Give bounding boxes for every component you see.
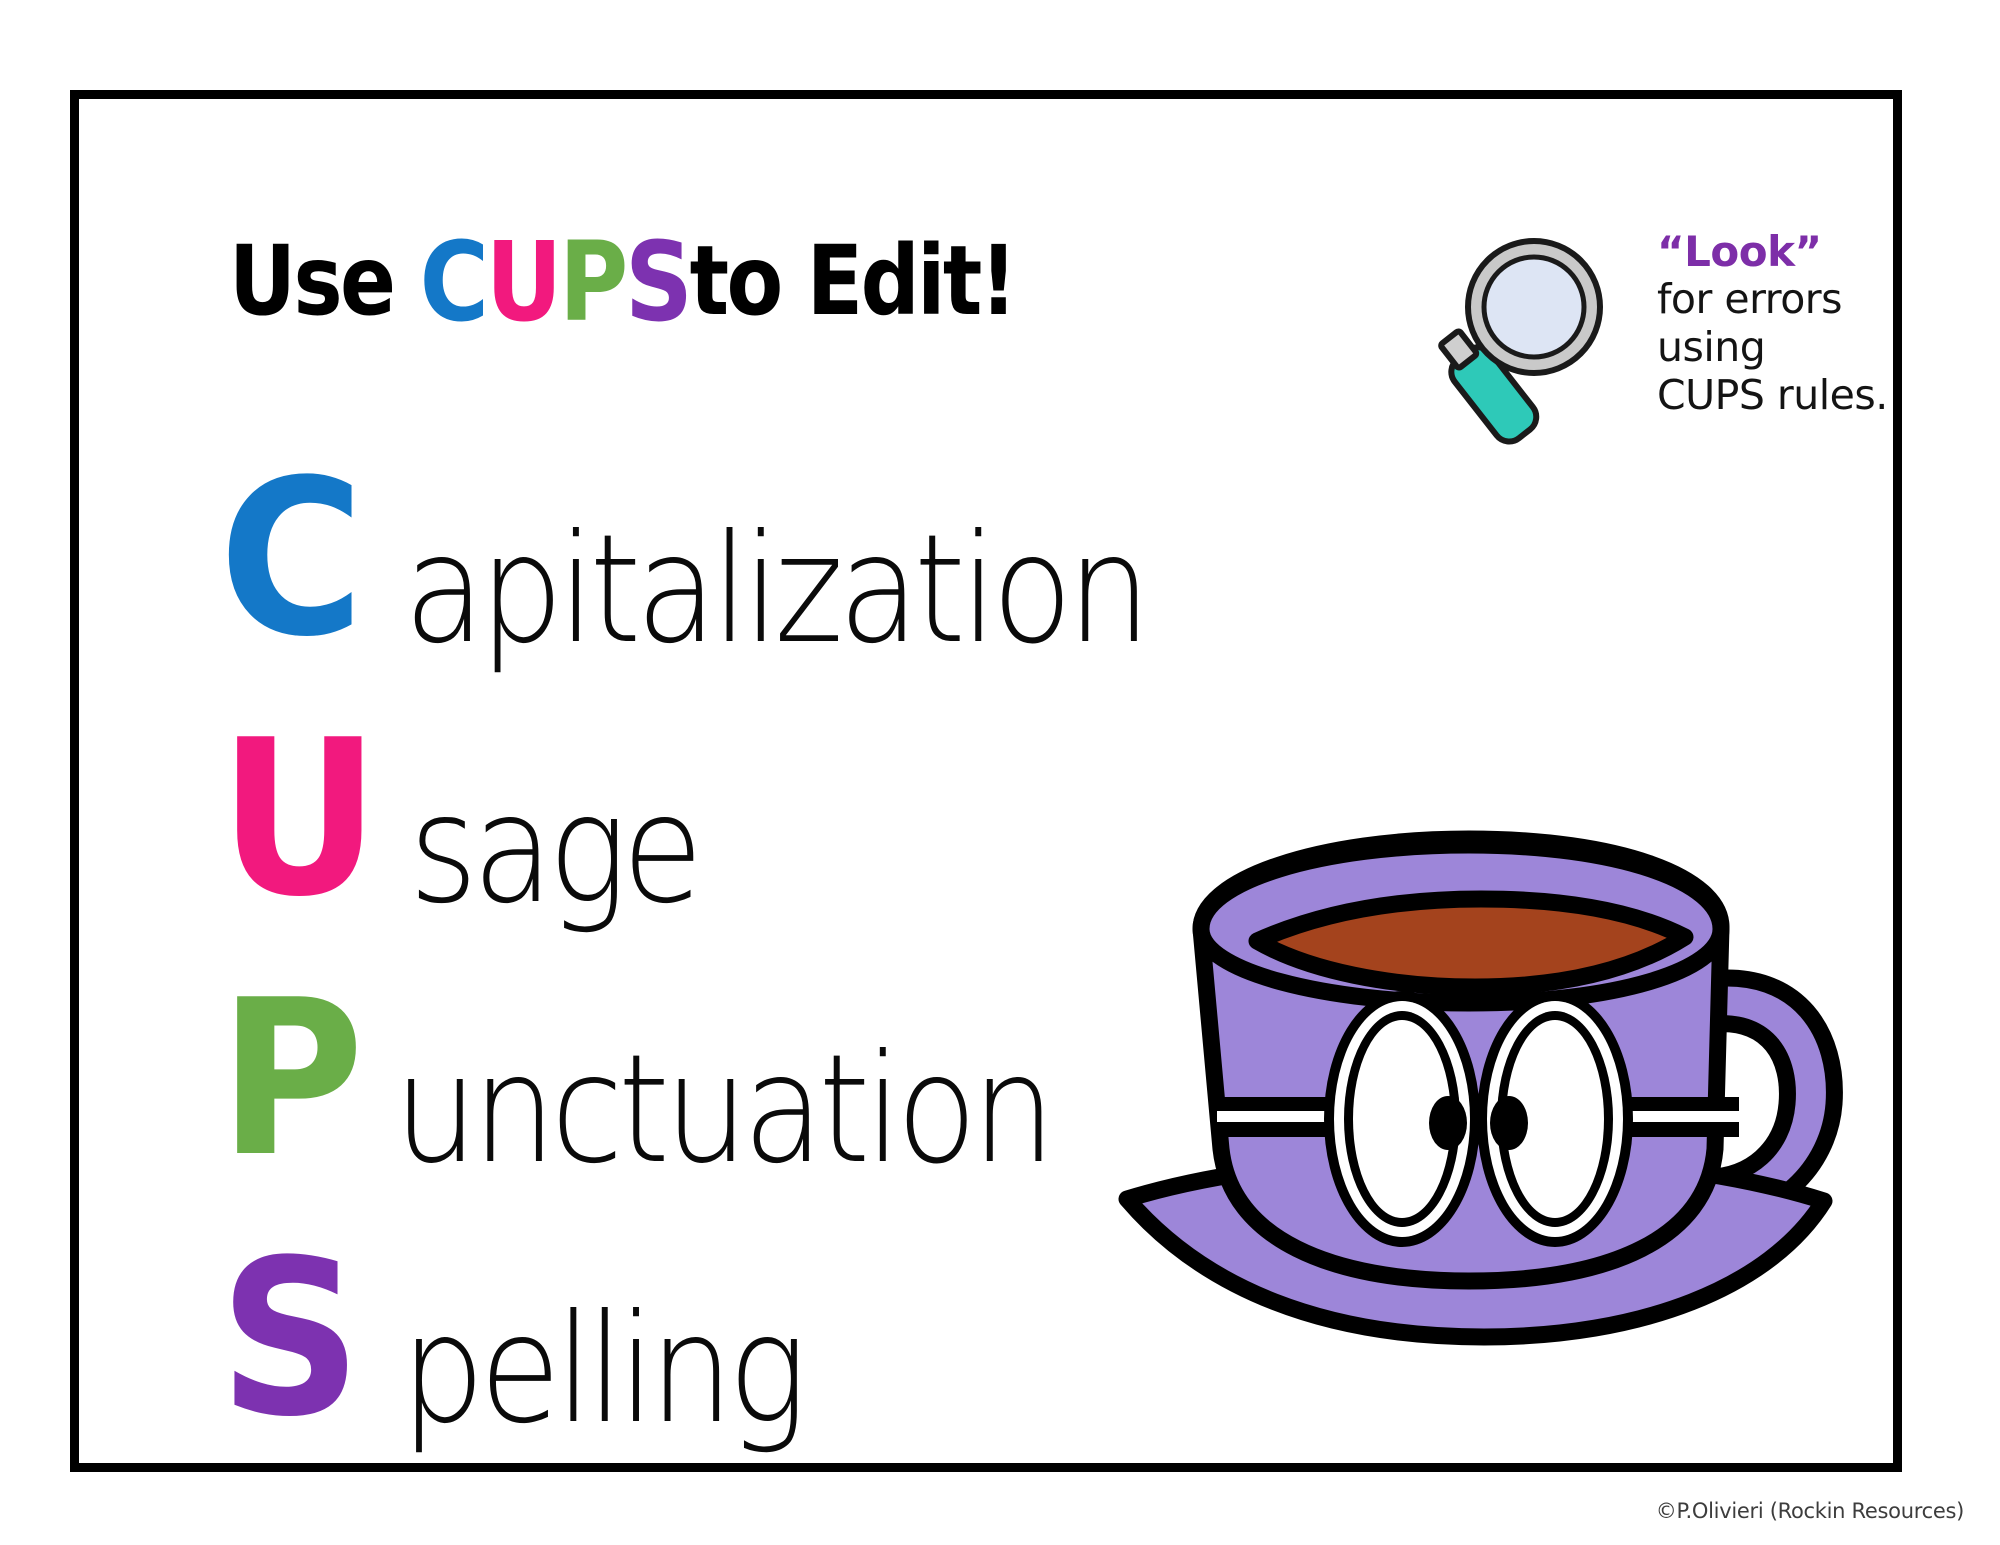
cups-row-capitalization: C apitalization xyxy=(219,451,1219,711)
look-callout-text: “Look” for errors using CUPS rules. xyxy=(1657,227,1977,420)
callout-line-3: using xyxy=(1657,324,1977,372)
cups-letter-s: S xyxy=(219,1231,356,1446)
magnifying-glass-icon xyxy=(1427,227,1617,457)
callout-line-2: for errors xyxy=(1657,276,1977,324)
cups-word-spelling: pelling xyxy=(401,1295,802,1445)
cups-word-capitalization: apitalization xyxy=(404,515,1146,665)
title-acronym-letter-p: P xyxy=(559,218,625,346)
page-title: Use CUPSto Edit! xyxy=(229,221,1015,331)
cups-letter-p: P xyxy=(219,971,358,1186)
cups-row-spelling: S pelling xyxy=(219,1231,1219,1491)
poster-border-frame: Use CUPSto Edit! “Look” for errors using… xyxy=(70,90,1902,1472)
cups-word-punctuation: unctuation xyxy=(394,1035,1050,1185)
title-suffix: to Edit! xyxy=(690,225,1015,337)
cups-row-punctuation: P unctuation xyxy=(219,971,1219,1231)
cups-row-usage: U sage xyxy=(219,711,1219,971)
title-acronym-letter-c: C xyxy=(420,218,486,346)
title-acronym-letter-u: U xyxy=(486,218,559,346)
cups-letter-u: U xyxy=(219,711,374,926)
title-acronym-letter-s: S xyxy=(625,218,690,346)
cups-acronym-list: C apitalization U sage P unctuation S pe… xyxy=(219,451,1219,1491)
callout-line-4: CUPS rules. xyxy=(1657,372,1977,420)
copyright-credit: ©P.Olivieri (Rockin Resources) xyxy=(1656,1499,1964,1523)
title-prefix: Use xyxy=(229,225,420,337)
callout-line-look: “Look” xyxy=(1657,227,1977,276)
cups-word-usage: sage xyxy=(409,775,698,925)
cups-letter-c: C xyxy=(219,451,359,666)
teacup-with-eyes-icon xyxy=(1109,819,1849,1379)
